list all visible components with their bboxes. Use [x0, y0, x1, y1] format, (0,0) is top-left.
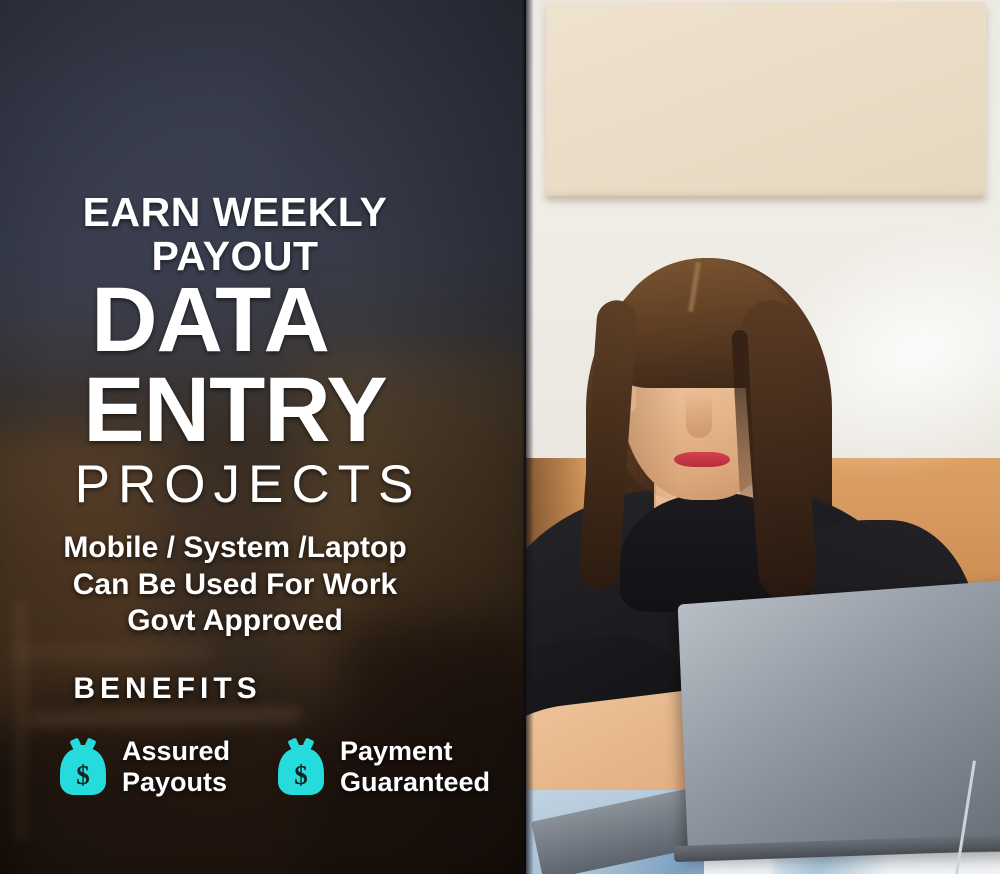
- subtext-line-2: Can Be Used For Work: [0, 567, 470, 604]
- headline-projects: PROJECTS: [0, 458, 496, 511]
- money-bag-icon: $: [60, 739, 106, 795]
- benefits-heading: BENEFITS: [0, 672, 335, 706]
- laptop-lid: [678, 579, 1000, 857]
- subtext-line-1: Mobile / System /Laptop: [0, 530, 470, 567]
- benefit-line-1: Payment: [340, 736, 490, 767]
- lips: [674, 452, 730, 467]
- dollar-symbol: $: [278, 760, 324, 791]
- dollar-symbol: $: [60, 760, 106, 791]
- kicker-text: EARN WEEKLY PAYOUT: [0, 192, 470, 278]
- headline-data: DATA: [0, 278, 420, 363]
- wall-canvas-art: [546, 2, 986, 196]
- kicker-line-1: EARN WEEKLY: [83, 189, 388, 235]
- benefit-item-assured-payouts: $ Assured Payouts: [60, 736, 230, 799]
- benefit-line-1: Assured: [122, 736, 230, 767]
- ad-poster: INDIA EARN WEEKLY PAYOUT DATA ENTRY PROJ…: [0, 0, 1000, 874]
- benefit-line-2: Payouts: [122, 767, 230, 798]
- headline-entry: ENTRY: [0, 368, 470, 453]
- money-bag-icon: $: [278, 739, 324, 795]
- benefit-label: Assured Payouts: [122, 736, 230, 799]
- benefit-item-payment-guaranteed: $ Payment Guaranteed: [278, 736, 490, 799]
- photo-panel: INDIA: [524, 0, 1000, 874]
- subtext-line-3: Govt Approved: [0, 603, 470, 640]
- benefit-line-2: Guaranteed: [340, 767, 490, 798]
- subtext-block: Mobile / System /Laptop Can Be Used For …: [0, 530, 470, 640]
- nose: [686, 392, 712, 438]
- benefit-label: Payment Guaranteed: [340, 736, 490, 799]
- poster-copy: EARN WEEKLY PAYOUT DATA ENTRY PROJECTS M…: [0, 0, 526, 874]
